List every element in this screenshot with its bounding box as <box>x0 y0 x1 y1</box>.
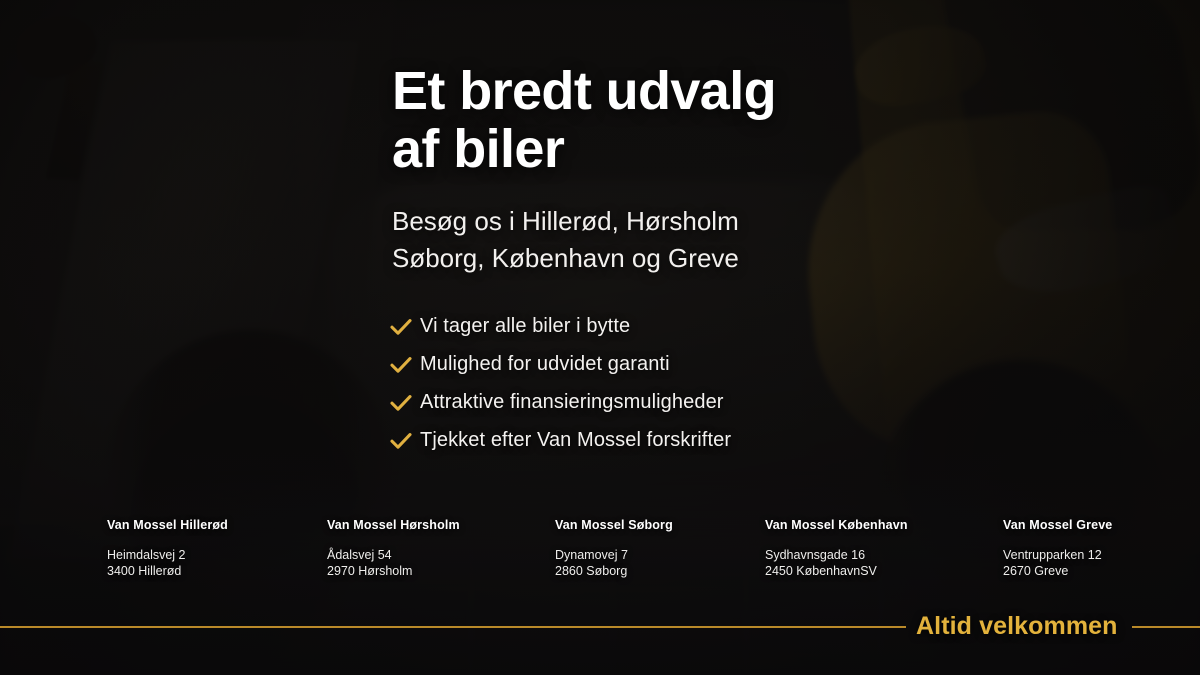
page-subtitle: Besøg os i Hillerød, Hørsholm Søborg, Kø… <box>392 203 952 277</box>
dealer-name: Van Mossel Hørsholm <box>327 518 460 532</box>
list-item-label: Attraktive finansieringsmuligheder <box>420 391 724 414</box>
list-item: Mulighed for udvidet garanti <box>390 346 731 383</box>
list-item: Vi tager alle biler i bytte <box>390 308 731 345</box>
list-item-label: Tjekket efter Van Mossel forskrifter <box>420 429 731 452</box>
dealer-horsholm: Van Mossel Hørsholm Ådalsvej 54 2970 Hør… <box>327 518 460 579</box>
list-item-label: Mulighed for udvidet garanti <box>420 353 670 376</box>
list-item: Tjekket efter Van Mossel forskrifter <box>390 422 731 459</box>
dealer-kobenhavn: Van Mossel København Sydhavnsgade 16 245… <box>765 518 908 579</box>
check-icon <box>390 318 420 336</box>
dealer-name: Van Mossel København <box>765 518 908 532</box>
page-title: Et bredt udvalg af biler <box>392 62 952 179</box>
dealer-address: Dynamovej 7 2860 Søborg <box>555 547 673 579</box>
dealer-soborg: Van Mossel Søborg Dynamovej 7 2860 Søbor… <box>555 518 673 579</box>
dealer-greve: Van Mossel Greve Ventrupparken 12 2670 G… <box>1003 518 1112 579</box>
dealer-name: Van Mossel Greve <box>1003 518 1112 532</box>
dealer-hillerod: Van Mossel Hillerød Heimdalsvej 2 3400 H… <box>107 518 228 579</box>
dealer-name: Van Mossel Hillerød <box>107 518 228 532</box>
feature-list: Vi tager alle biler i bytte Mulighed for… <box>390 308 731 460</box>
list-item-label: Vi tager alle biler i bytte <box>420 315 630 338</box>
footer-divider-left <box>0 626 906 628</box>
dealer-name: Van Mossel Søborg <box>555 518 673 532</box>
footer-tagline: Altid velkommen <box>916 612 1118 641</box>
dealer-address: Heimdalsvej 2 3400 Hillerød <box>107 547 228 579</box>
dealer-address: Ådalsvej 54 2970 Hørsholm <box>327 547 460 579</box>
check-icon <box>390 394 420 412</box>
slide-content: Et bredt udvalg af biler Besøg os i Hill… <box>0 0 1200 675</box>
check-icon <box>390 432 420 450</box>
dealer-address: Sydhavnsgade 16 2450 KøbenhavnSV <box>765 547 908 579</box>
list-item: Attraktive finansieringsmuligheder <box>390 384 731 421</box>
dealer-locations: Van Mossel Hillerød Heimdalsvej 2 3400 H… <box>0 518 1200 588</box>
dealer-address: Ventrupparken 12 2670 Greve <box>1003 547 1112 579</box>
promo-slide: Et bredt udvalg af biler Besøg os i Hill… <box>0 0 1200 675</box>
footer-divider-right <box>1132 626 1200 628</box>
check-icon <box>390 356 420 374</box>
